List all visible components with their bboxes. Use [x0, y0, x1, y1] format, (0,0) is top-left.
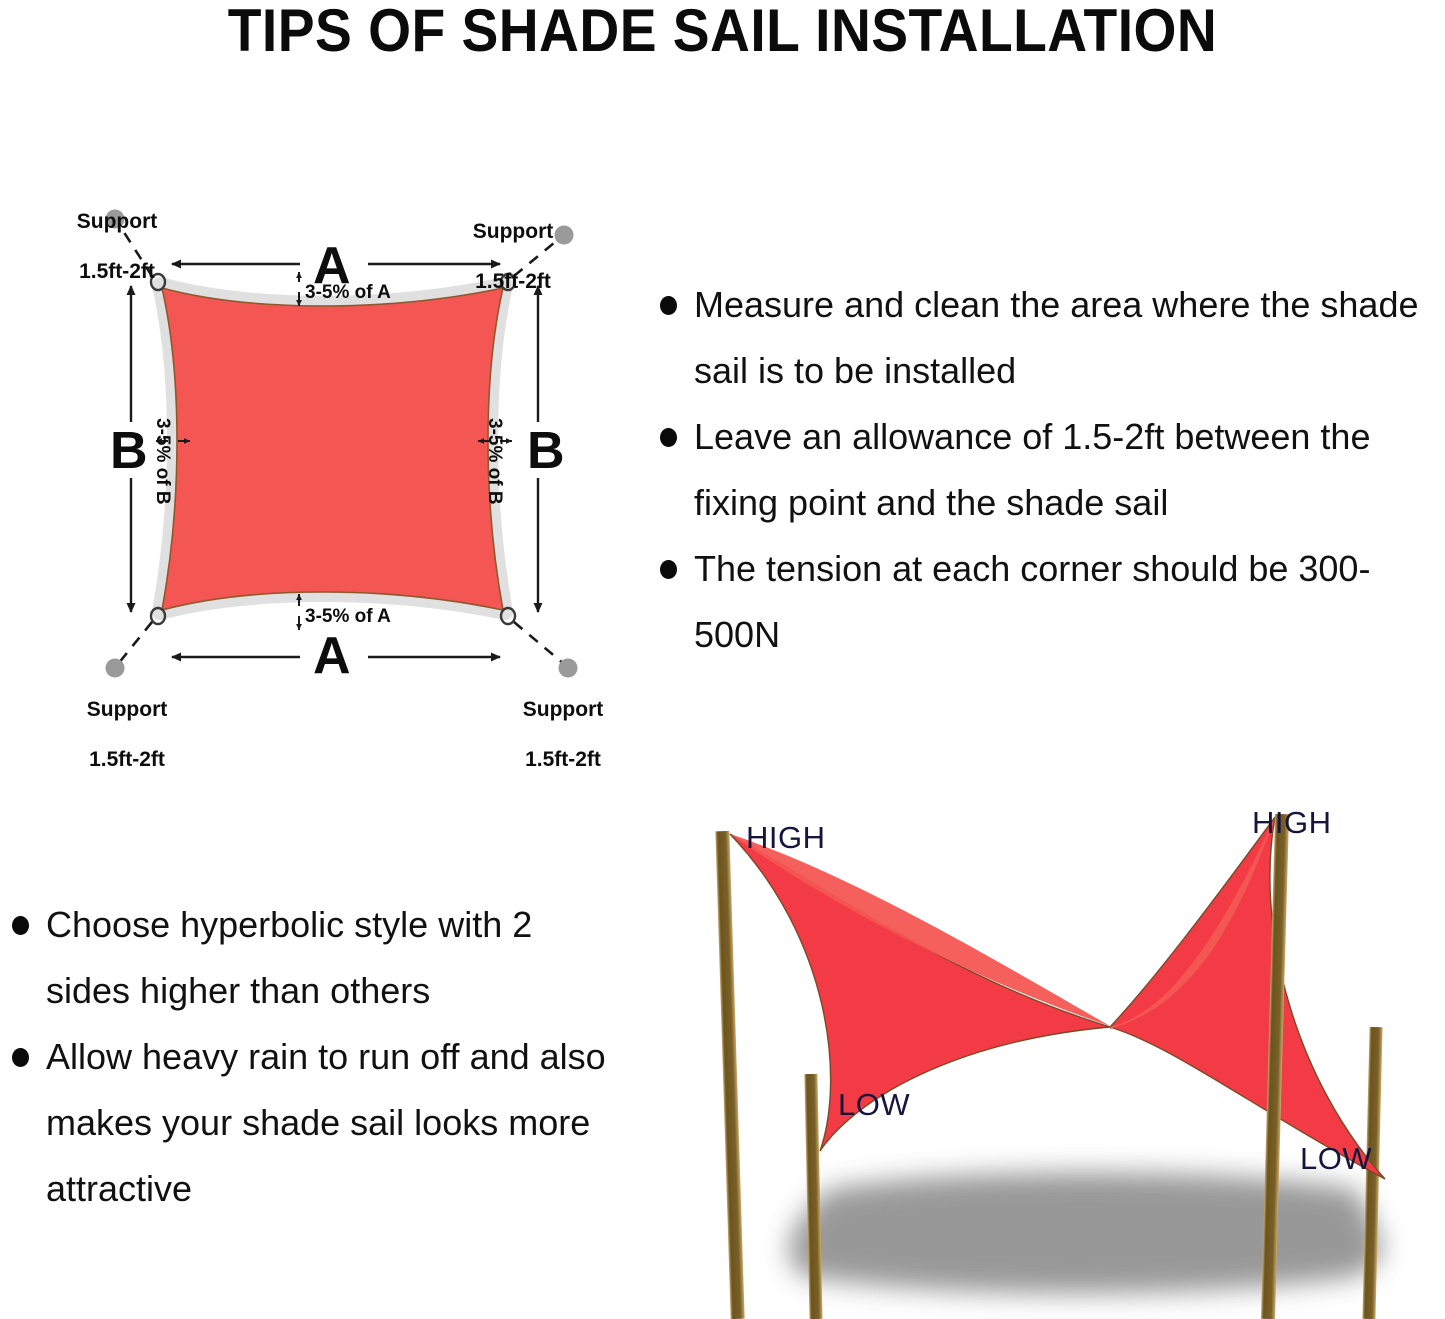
- sail-panel-right: [1110, 817, 1385, 1179]
- tip-item: Leave an allowance of 1.5-2ft between th…: [648, 404, 1445, 536]
- sail-panel-left: [730, 834, 1110, 1151]
- hyperbolic-sail-diagram: [655, 779, 1445, 1319]
- dimension-letter-b-left: B: [110, 425, 148, 477]
- pole-low-left: [804, 1074, 822, 1319]
- support-line1: Support: [523, 698, 603, 721]
- infographic-page: TIPS OF SHADE SAIL INSTALLATION: [0, 0, 1445, 1319]
- support-label-bottom-left: Support 1.5ft-2ft: [62, 672, 192, 772]
- support-line2: 1.5ft-2ft: [89, 748, 165, 771]
- support-line2: 1.5ft-2ft: [525, 748, 601, 771]
- support-label-top-right: Support 1.5ft-2ft: [458, 194, 568, 294]
- tip-item: The tension at each corner should be 300…: [648, 536, 1445, 668]
- dimension-letter-b-right: B: [527, 425, 565, 477]
- label-high-right: HIGH: [1252, 805, 1332, 841]
- label-low-left: LOW: [838, 1087, 910, 1123]
- page-title: TIPS OF SHADE SAIL INSTALLATION: [58, 0, 1387, 62]
- support-line-bottom-right: [514, 622, 564, 664]
- support-line-bottom-left: [118, 622, 152, 664]
- tip-item: Choose hyperbolic style with 2 sides hig…: [0, 892, 620, 1024]
- tips-list-left: Choose hyperbolic style with 2 sides hig…: [0, 892, 620, 1222]
- support-line1: Support: [77, 210, 157, 233]
- tips-list-right: Measure and clean the area where the sha…: [648, 272, 1445, 668]
- curve-label-left: 3-5% of B: [153, 418, 172, 505]
- support-line2: 1.5ft-2ft: [475, 270, 551, 293]
- curve-label-right: 3-5% of B: [485, 418, 504, 505]
- dimension-letter-a-bottom: A: [313, 630, 351, 682]
- sail-body: [162, 288, 503, 610]
- label-high-left: HIGH: [746, 820, 826, 856]
- support-label-top-left: Support 1.5ft-2ft: [62, 184, 172, 284]
- support-label-bottom-right: Support 1.5ft-2ft: [498, 672, 628, 772]
- pole-high-left: [715, 831, 744, 1319]
- tip-item: Measure and clean the area where the sha…: [648, 272, 1445, 404]
- label-low-right: LOW: [1300, 1141, 1372, 1177]
- tip-item: Allow heavy rain to run off and also mak…: [0, 1024, 620, 1222]
- support-line1: Support: [473, 220, 553, 243]
- support-line2: 1.5ft-2ft: [79, 260, 155, 283]
- curve-label-top: 3-5% of A: [305, 283, 391, 302]
- ground-shadow: [789, 1173, 1381, 1294]
- support-line1: Support: [87, 698, 167, 721]
- curve-label-bottom: 3-5% of A: [305, 607, 391, 626]
